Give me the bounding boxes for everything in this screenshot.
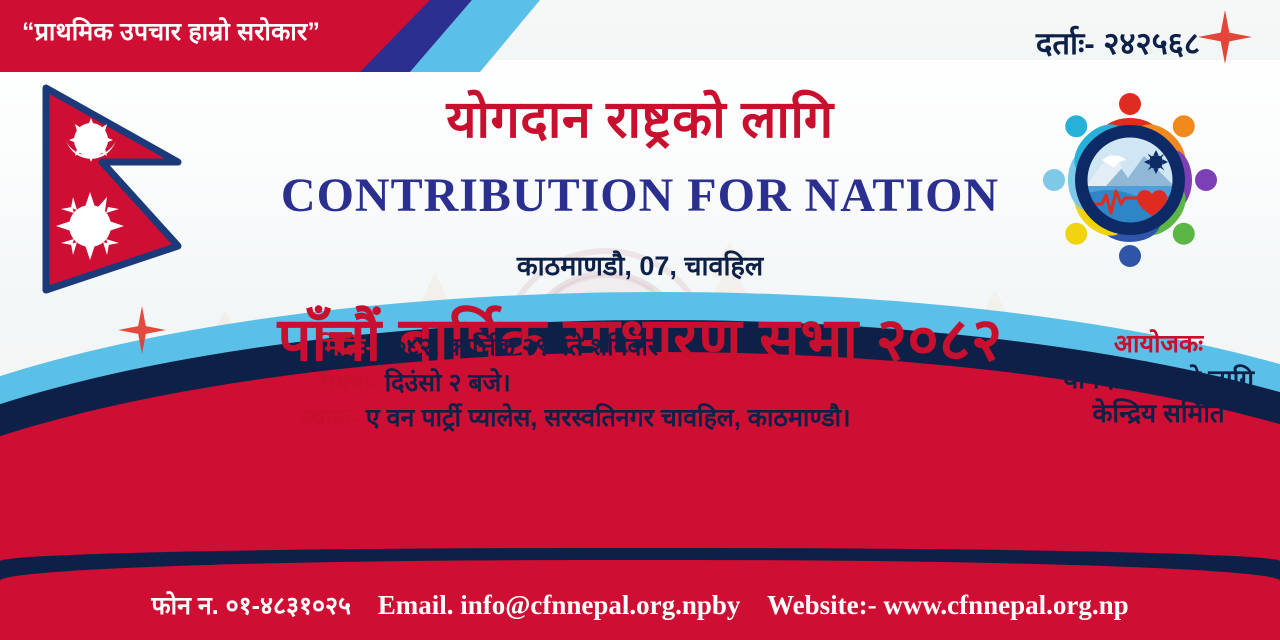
detail-row-venue: स्थानः- ए वन पार्ट्री प्यालेस, सरस्वतिनग… <box>300 401 851 437</box>
event-details: मितिः- २०८२, कार्त्तिक २९ गते शनिवार समय… <box>300 330 851 437</box>
organizer-label: आयोजकः <box>1063 328 1254 362</box>
footer-contact-bar: फोन न. ०१-४८३१०२५ Email. info@cfnnepal.o… <box>0 588 1280 622</box>
detail-label-date: मितिः- <box>318 333 374 361</box>
event-banner: “प्राथमिक उपचार हाम्रो सरोकार” दर्ताः- २… <box>0 0 1280 640</box>
nepal-flag-icon <box>28 78 198 308</box>
organizer-block: आयोजकः योगदान राष्ट्रको लागि केन्द्रिय स… <box>1063 328 1254 431</box>
footer-website[interactable]: Website:- www.cfnnepal.org.np <box>767 590 1129 620</box>
footer-phone: फोन न. ०१-४८३१०२५ <box>151 592 351 620</box>
cfn-logo: CONTRIBUTION FOR NATION योगदान राष्ट्रको… <box>1032 82 1228 278</box>
detail-value-time: दिउंसो २ बजे। <box>385 369 511 397</box>
detail-value-date: २०८२, कार्त्तिक २९ गते शनिवार <box>380 333 658 361</box>
detail-row-date: मितिः- २०८२, कार्त्तिक २९ गते शनिवार <box>318 330 851 366</box>
organizer-committee: केन्द्रिय समिति <box>1063 396 1254 431</box>
organizer-name: योगदान राष्ट्रको लागि <box>1063 362 1254 397</box>
detail-value-venue: ए वन पार्ट्री प्यालेस, सरस्वतिनगर चावहिल… <box>366 404 851 432</box>
tagline-text: “प्राथमिक उपचार हाम्रो सरोकार” <box>22 14 320 48</box>
detail-row-time: समयः- दिउंसो २ बजे। <box>318 366 851 402</box>
detail-label-venue: स्थानः- <box>300 404 359 432</box>
footer-email[interactable]: Email. info@cfnnepal.org.npby <box>378 590 741 620</box>
detail-label-time: समयः- <box>318 369 378 397</box>
